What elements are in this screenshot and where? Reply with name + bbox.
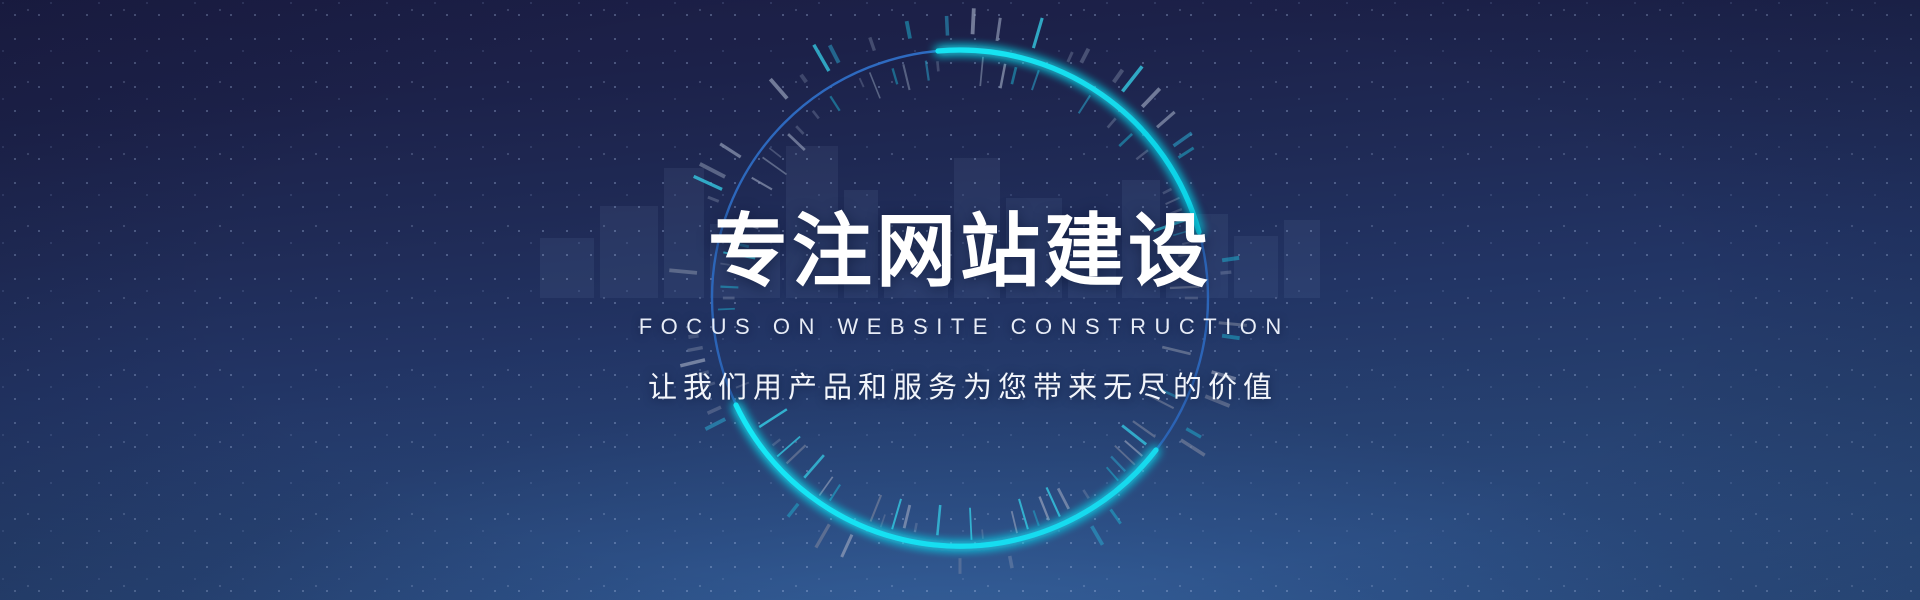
banner-content: 专注网站建设 FOCUS ON WEBSITE CONSTRUCTION 让我们…: [0, 0, 1920, 600]
banner-subtitle: FOCUS ON WEBSITE CONSTRUCTION: [630, 314, 1290, 340]
hero-banner: 专注网站建设 FOCUS ON WEBSITE CONSTRUCTION 让我们…: [0, 0, 1920, 600]
banner-title: 专注网站建设: [708, 212, 1212, 292]
banner-tagline: 让我们用产品和服务为您带来无尽的价值: [642, 364, 1278, 406]
